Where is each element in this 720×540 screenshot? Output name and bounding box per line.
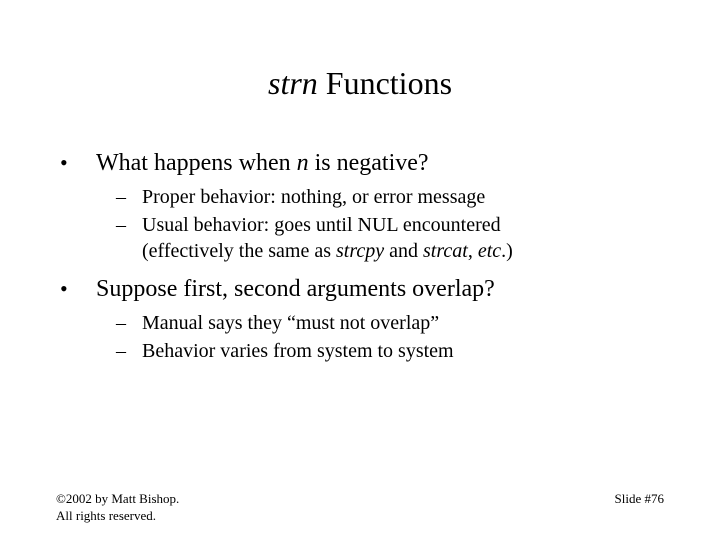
- slide-number: Slide #76: [615, 490, 664, 507]
- code-term-strcat: strcat: [423, 240, 468, 262]
- sub-bullet-1-2-mid: and: [384, 240, 423, 262]
- sub-bullet-item-2-2: – Behavior varies from system to system: [52, 338, 682, 364]
- footer-copyright-line-1: ©2002 by Matt Bishop.: [56, 490, 179, 507]
- dash-glyph-icon: –: [116, 338, 126, 364]
- sub-bullet-1-2-comma: ,: [468, 240, 478, 262]
- bullet-glyph-icon: •: [60, 274, 68, 304]
- sub-bullet-2-2-text: Behavior varies from system to system: [142, 340, 454, 362]
- sub-bullet-1-2-line-2: (effectively the same as strcpy and strc…: [142, 238, 682, 264]
- bullet-2-text: Suppose first, second arguments overlap?: [96, 276, 495, 302]
- slide-body: • What happens when n is negative? – Pro…: [52, 148, 682, 366]
- page-title-italic: strn: [268, 65, 318, 101]
- sub-bullet-item-1-2: – Usual behavior: goes until NUL encount…: [52, 212, 682, 264]
- bullet-glyph-icon: •: [60, 148, 68, 178]
- sub-bullet-2-1-text: Manual says they “must not overlap”: [142, 312, 439, 334]
- bullet-1-text-tail: is negative?: [309, 150, 429, 176]
- page-title: strn Functions: [0, 64, 720, 102]
- slide: strn Functions • What happens when n is …: [0, 0, 720, 540]
- dash-glyph-icon: –: [116, 184, 126, 210]
- footer-copyright-line-2: All rights reserved.: [56, 507, 179, 524]
- bullet-item-1: • What happens when n is negative?: [52, 148, 682, 178]
- sub-bullet-item-1-1: – Proper behavior: nothing, or error mes…: [52, 184, 682, 210]
- sub-bullet-1-2-end: .): [501, 240, 513, 262]
- bullet-1-text-pre: What happens when: [96, 150, 297, 176]
- dash-glyph-icon: –: [116, 212, 126, 238]
- sub-bullet-1-2-line-2-pre: (effectively the same as: [142, 240, 336, 262]
- code-term-strcpy: strcpy: [336, 240, 384, 262]
- dash-glyph-icon: –: [116, 310, 126, 336]
- footer-copyright: ©2002 by Matt Bishop. All rights reserve…: [56, 490, 179, 524]
- term-etc: etc: [478, 240, 501, 262]
- bullet-1-italic-n: n: [297, 150, 309, 176]
- sub-bullet-1-2-line-1: Usual behavior: goes until NUL encounter…: [142, 214, 501, 236]
- bullet-item-2: • Suppose first, second arguments overla…: [52, 274, 682, 304]
- page-title-rest: Functions: [318, 65, 452, 101]
- sub-bullet-item-2-1: – Manual says they “must not overlap”: [52, 310, 682, 336]
- sub-bullet-1-1-text: Proper behavior: nothing, or error messa…: [142, 186, 485, 208]
